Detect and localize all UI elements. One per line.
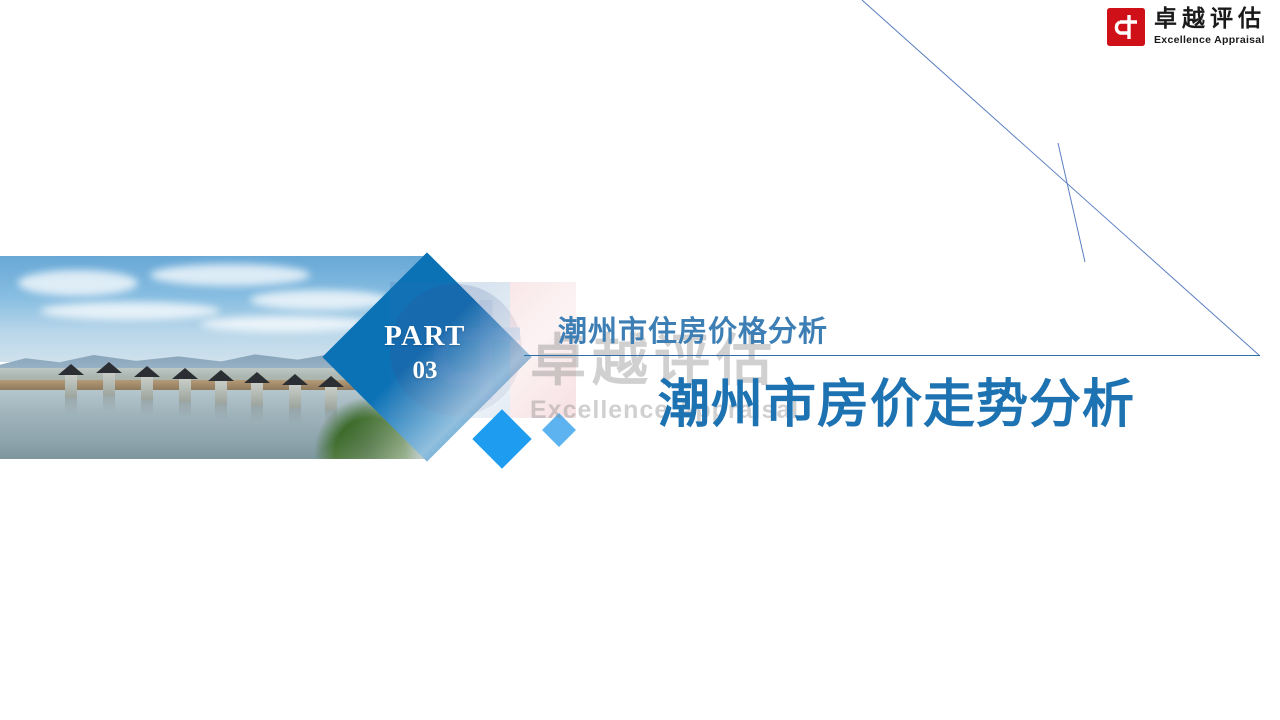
brand-name-cn: 卓越评估: [1154, 8, 1266, 31]
brand-text: 卓越评估 Excellence Appraisal: [1154, 8, 1266, 46]
brand-logo: 卓越评估 Excellence Appraisal: [1107, 8, 1266, 46]
brand-name-en: Excellence Appraisal: [1154, 35, 1266, 46]
part-label: PART 03: [352, 322, 498, 383]
slide-subtitle: 潮州市住房价格分析: [558, 308, 828, 350]
brand-mark-icon: [1107, 8, 1145, 46]
slide-title: 潮州市房价走势分析: [658, 362, 1135, 437]
slide-canvas: PART 03 卓越评估 Excellence Appraisal 潮州市住房价…: [0, 0, 1280, 720]
accent-diamond-small: [542, 413, 576, 447]
part-number: 03: [352, 358, 498, 383]
title-underline-rule: [524, 355, 1260, 356]
part-word: PART: [352, 322, 498, 351]
